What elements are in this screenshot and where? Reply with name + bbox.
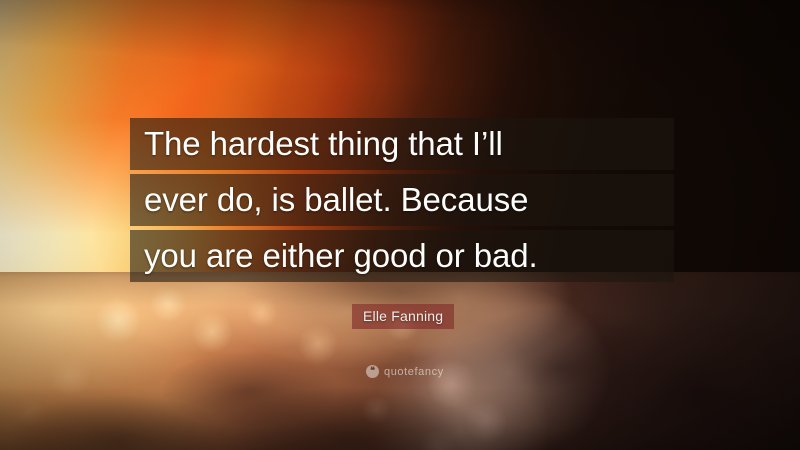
quote-line-1: The hardest thing that I’ll (130, 118, 674, 170)
author-attribution: Elle Fanning (352, 304, 454, 329)
quote-mark-icon: ❝ (366, 365, 379, 378)
quote-mark-glyph: ❝ (370, 366, 375, 375)
quote-block: The hardest thing that I’ll ever do, is … (130, 118, 674, 282)
watermark[interactable]: ❝ quotefancy (366, 365, 444, 378)
quote-poster: The hardest thing that I’ll ever do, is … (0, 0, 800, 450)
watermark-brand: quotefancy (384, 366, 444, 378)
quote-line-3: you are either good or bad. (130, 230, 674, 282)
quote-line-2: ever do, is ballet. Because (130, 174, 674, 226)
